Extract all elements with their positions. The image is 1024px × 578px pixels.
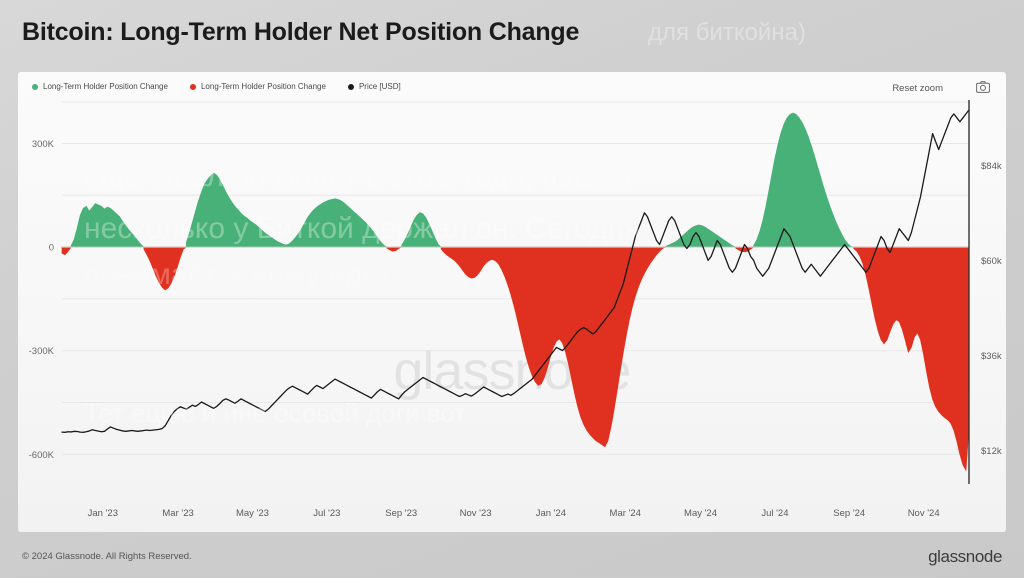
x-axis-tick: May '23 <box>236 508 269 519</box>
chart-plot[interactable]: 300K0-300K-600K$84k$60k$36k$12kJan '23Ma… <box>18 72 1006 532</box>
x-axis-tick: Jul '24 <box>761 508 788 519</box>
y-axis-right-tick: $60k <box>981 256 1002 267</box>
y-axis-left-tick: 0 <box>49 243 54 254</box>
y-axis-right-tick: $36k <box>981 351 1002 362</box>
page-title: Bitcoin: Long-Term Holder Net Position C… <box>22 18 579 47</box>
x-axis-tick: Sep '24 <box>833 508 865 519</box>
x-axis-tick: Mar '24 <box>610 508 641 519</box>
x-axis-tick: Jan '24 <box>536 508 566 519</box>
footer-logo: glassnode <box>928 547 1002 567</box>
overlay-text-top: для биткойна) <box>648 19 806 47</box>
y-axis-left-tick: -600K <box>29 450 55 461</box>
x-axis-tick: Jul '23 <box>313 508 340 519</box>
x-axis-tick: May '24 <box>684 508 717 519</box>
chart-panel: Long-Term Holder Position Change Long-Te… <box>18 72 1006 532</box>
screenshot-root: Bitcoin: Long-Term Holder Net Position C… <box>0 0 1024 578</box>
y-axis-left-tick: -300K <box>29 346 55 357</box>
x-axis-tick: Nov '23 <box>460 508 492 519</box>
x-axis-tick: Jan '23 <box>88 508 118 519</box>
y-axis-left-tick: 300K <box>32 139 55 150</box>
y-axis-right-tick: $12k <box>981 446 1002 457</box>
x-axis-tick: Sep '23 <box>385 508 417 519</box>
x-axis-tick: Mar '23 <box>162 508 193 519</box>
x-axis-tick: Nov '24 <box>908 508 940 519</box>
footer-copyright: © 2024 Glassnode. All Rights Reserved. <box>22 551 192 562</box>
y-axis-right-tick: $84k <box>981 161 1002 172</box>
